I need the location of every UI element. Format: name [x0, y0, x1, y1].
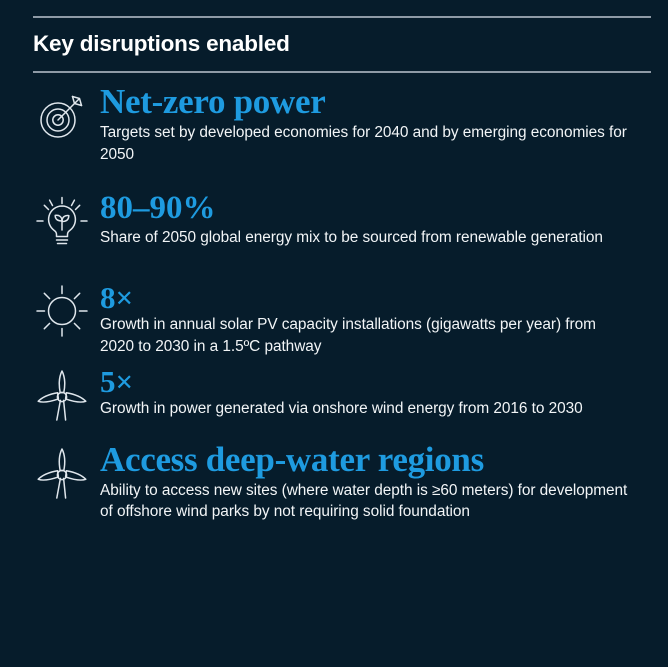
sun-icon — [28, 282, 96, 350]
key-disruptions-panel: Key disruptions enabled Net-zero power T… — [0, 16, 668, 667]
list-item: 80–90% Share of 2050 global energy mix t… — [28, 192, 658, 260]
list-item-body: Net-zero power Targets set by developed … — [96, 84, 658, 166]
header-rule-bottom — [33, 71, 651, 73]
lightbulb-leaf-icon — [28, 192, 96, 260]
list-item-heading: Access deep-water regions — [100, 442, 658, 480]
list-item-body: 5× Growth in power generated via onshore… — [96, 366, 658, 420]
list-item-description: Share of 2050 global energy mix to be so… — [100, 227, 630, 249]
list-item-description: Growth in power generated via onshore wi… — [100, 398, 630, 420]
page-title: Key disruptions enabled — [33, 18, 651, 61]
wind-turbine-icon — [28, 366, 96, 434]
disruption-list: Net-zero power Targets set by developed … — [0, 84, 668, 523]
list-item-body: 8× Growth in annual solar PV capacity in… — [96, 282, 658, 358]
list-item-heading: Net-zero power — [100, 84, 658, 122]
list-item: 5× Growth in power generated via onshore… — [28, 366, 658, 434]
list-item-body: 80–90% Share of 2050 global energy mix t… — [96, 192, 658, 249]
list-item-heading: 8× — [100, 282, 658, 314]
list-item: Net-zero power Targets set by developed … — [28, 84, 658, 166]
list-item: 8× Growth in annual solar PV capacity in… — [28, 282, 658, 358]
list-item-description: Growth in annual solar PV capacity insta… — [100, 314, 630, 358]
wind-turbine-icon — [28, 442, 96, 510]
panel-header: Key disruptions enabled — [0, 16, 668, 73]
list-item-heading: 5× — [100, 366, 658, 398]
list-item-description: Targets set by developed economies for 2… — [100, 122, 630, 166]
target-arrow-icon — [28, 84, 96, 152]
list-item-body: Access deep-water regions Ability to acc… — [96, 442, 658, 524]
list-item-description: Ability to access new sites (where water… — [100, 480, 630, 524]
list-item: Access deep-water regions Ability to acc… — [28, 442, 658, 524]
list-item-heading: 80–90% — [100, 192, 658, 227]
